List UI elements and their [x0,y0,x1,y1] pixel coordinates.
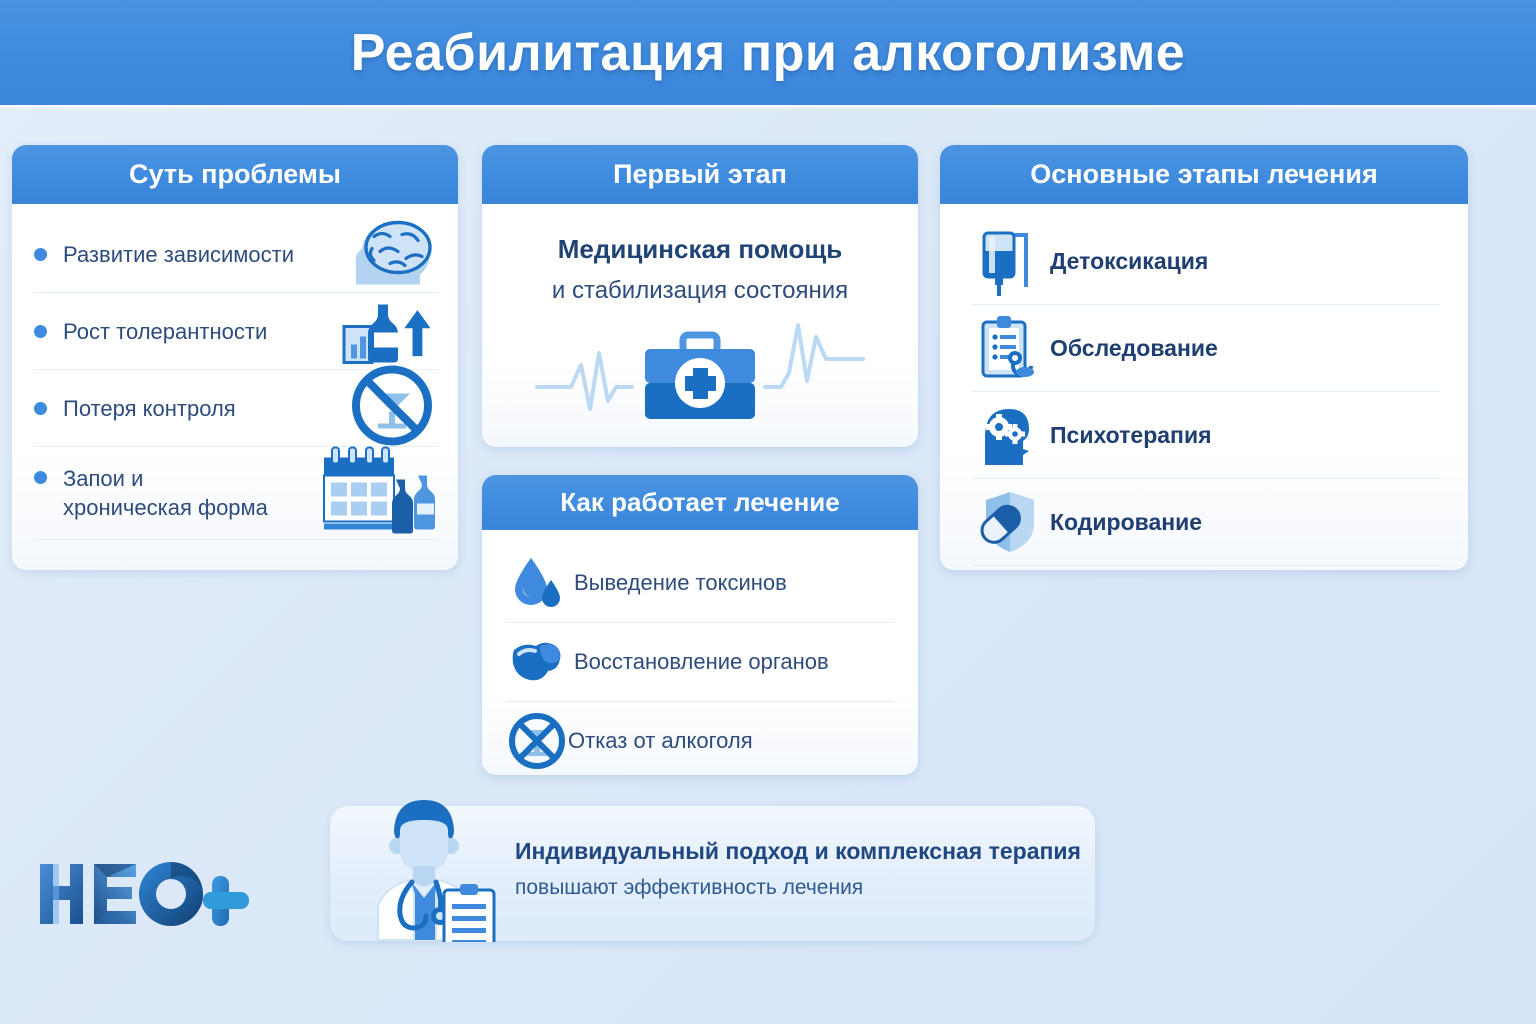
list-item-label: Обследование [1050,335,1218,362]
first-stage-line1: Медицинская помощь [504,234,896,265]
list-item[interactable]: Обследование [972,305,1440,392]
list-item-label: Запои и хроническая форма [63,464,268,522]
bullet-dot [34,248,47,261]
first-stage-line2: и стабилизация состояния [504,277,896,305]
head-gears-icon [972,399,1044,471]
card-main-stages: Основные этапы лечения Детоксикация [940,145,1468,570]
list-item-label: Психотерапия [1050,422,1212,449]
card-problem-header: Суть проблемы [12,145,458,204]
list-item[interactable]: Детоксикация [972,218,1440,305]
pill-shield-icon [972,486,1044,558]
card-how-body: Выведение токсинов Восстановление органо… [482,530,918,775]
list-item-label: Восстановление органов [574,649,829,675]
list-item[interactable]: Кодирование [972,479,1440,566]
list-item[interactable]: Запои и хроническая форма [34,447,438,540]
bottle-growth-arrow-icon [342,291,430,372]
card-first-stage: Первый этап Медицинская помощь и стабили… [482,145,918,447]
list-item-label: Потеря контроля [63,394,236,423]
water-drop-icon [506,552,568,614]
no-alcohol-circle-icon [506,710,568,772]
card-how-header: Как работает лечение [482,475,918,530]
bullet-dot [34,471,47,484]
list-item[interactable]: Восстановление органов [506,623,894,702]
clipboard-stethoscope-icon [972,312,1044,384]
page-header: Реабилитация при алкоголизме [0,0,1536,105]
card-first-stage-body: Медицинская помощь и стабилизация состоя… [482,204,918,425]
card-problem: Суть проблемы Развитие зависимости Рост … [12,145,458,570]
card-problem-title: Суть проблемы [129,159,341,190]
brain-head-icon [350,219,436,290]
page-title: Реабилитация при алкоголизме [351,23,1185,83]
card-problem-body: Развитие зависимости Рост толерантности [12,204,458,540]
list-item-label: Выведение токсинов [574,570,787,596]
list-item-label: Рост толерантности [63,317,267,346]
doctor-clipboard-icon [352,794,502,947]
card-how-title: Как работает лечение [560,487,839,518]
banner-line2: повышают эффективность лечения [515,876,1081,900]
card-how-treatment-works: Как работает лечение Выведение токсинов [482,475,918,775]
card-first-stage-header: Первый этап [482,145,918,204]
list-item[interactable]: Психотерапия [972,392,1440,479]
card-main-stages-body: Детоксикация Обследование [940,204,1468,566]
list-item-label: Кодирование [1050,509,1202,536]
card-main-stages-header: Основные этапы лечения [940,145,1468,204]
bullet-dot [34,325,47,338]
iv-drip-icon [972,225,1044,297]
bullet-dot [34,402,47,415]
card-first-stage-title: Первый этап [613,159,787,190]
list-item[interactable]: Рост толерантности [34,293,438,370]
list-item-label: Детоксикация [1050,248,1208,275]
no-alcohol-glass-icon [350,364,434,453]
header-bottom-edge [0,105,1536,110]
card-main-stages-title: Основные этапы лечения [1030,159,1377,190]
list-item[interactable]: Развитие зависимости [34,216,438,293]
banner-line1: Индивидуальный подход и комплексная тера… [515,838,1081,865]
list-item-label: Развитие зависимости [63,240,294,269]
banner-text-group: Индивидуальный подход и комплексная тера… [515,838,1081,900]
liver-icon [506,631,568,693]
first-aid-kit-ecg-icon [504,321,896,425]
list-item[interactable]: Отказ от алкоголя [506,702,894,775]
list-item-label: Отказ от алкоголя [568,728,753,754]
list-item[interactable]: Выведение токсинов [506,544,894,623]
calendar-bottles-icon [320,446,438,541]
list-item[interactable]: Потеря контроля [34,370,438,447]
neo-plus-logo[interactable] [36,856,251,937]
